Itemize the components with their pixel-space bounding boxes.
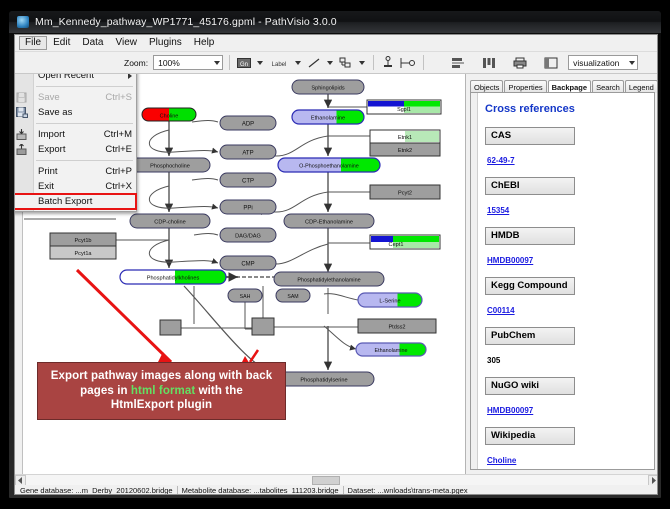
svg-text:ATP: ATP xyxy=(242,151,253,157)
toolbar-separator xyxy=(229,55,230,70)
svg-text:Sphingolipids: Sphingolipids xyxy=(311,86,344,92)
bond-tool-icon[interactable] xyxy=(399,55,417,71)
callout-line2-b: with the xyxy=(195,385,243,397)
svg-text:SAH: SAH xyxy=(240,294,251,300)
gene-node-cept1: Cept1 xyxy=(370,235,440,249)
menu-item-exit-label: Exit xyxy=(38,181,105,192)
save-as-disk-icon xyxy=(16,107,28,118)
menu-item-print-label: Print xyxy=(38,166,105,177)
toolbar-separator-3 xyxy=(423,55,424,70)
app-client-area: File Edit Data View Plugins Help Zoom: 1… xyxy=(14,34,658,495)
screenshot-root: Mm_Kennedy_pathway_WP1771_45176.gpml - P… xyxy=(0,0,670,509)
metabolite-node-ppi: PPi xyxy=(220,200,276,214)
menu-item-import-label: Import xyxy=(38,129,104,140)
gene-node-ptdss2: Ptdss2 xyxy=(358,319,436,333)
menu-item-exit[interactable]: Exit Ctrl+X xyxy=(15,179,136,194)
metabolite-node-phosphocholine: Phosphocholine xyxy=(130,158,210,172)
metabolite-node-phosphatidylethanolamine: Phosphatidylethanolamine xyxy=(274,272,384,286)
metabolite-node-ctp: CTP xyxy=(220,173,276,187)
menu-item-import-accel: Ctrl+M xyxy=(104,129,132,140)
align-tool-icon[interactable] xyxy=(450,55,466,71)
svg-text:Cept1: Cept1 xyxy=(389,242,404,248)
save-disk-icon xyxy=(16,92,28,103)
menu-item-batch-export[interactable]: Batch Export xyxy=(15,194,136,209)
gene-node-pcyt1a: Pcyt1a xyxy=(50,246,116,259)
xref-value-hmdb[interactable]: HMDB00097 xyxy=(487,256,533,265)
backpage-content: Cross references CAS 62-49-7 ChEBI 15354… xyxy=(470,92,655,470)
metabolite-node-phosphatidylserine: Phosphatidylserine xyxy=(274,372,374,386)
visualization-value: visualization xyxy=(573,58,619,68)
metabolite-node-sah: SAH xyxy=(228,289,262,302)
callout-line2-highlight: html format xyxy=(131,385,195,397)
menu-item-export[interactable]: Export Ctrl+E xyxy=(15,142,136,157)
chevron-down-icon-2 xyxy=(629,61,635,65)
menu-item-print-accel: Ctrl+P xyxy=(105,166,132,177)
menu-edit[interactable]: Edit xyxy=(47,36,76,50)
status-gene-database: Gene database: ...m_Derby_20120602.bridg… xyxy=(18,486,177,495)
svg-text:Ptdss2: Ptdss2 xyxy=(388,325,405,331)
datanode-dropdown-icon[interactable] xyxy=(257,61,263,65)
menu-help[interactable]: Help xyxy=(188,36,221,50)
svg-text:Phosphocholine: Phosphocholine xyxy=(150,164,190,170)
horizontal-scrollbar[interactable] xyxy=(15,474,658,485)
cross-references-heading: Cross references xyxy=(485,103,646,115)
scrollbar-track[interactable] xyxy=(26,475,648,486)
svg-text:CDP-choline: CDP-choline xyxy=(154,220,185,226)
side-panel-tabs: Objects Properties Backpage Search Legen… xyxy=(470,77,658,93)
interaction-tool-icon[interactable] xyxy=(338,55,354,71)
menu-separator-1 xyxy=(36,86,133,87)
metabolite-node-atp: ATP xyxy=(220,145,276,159)
metabolite-node-sphingolipids: Sphingolipids xyxy=(292,80,364,94)
import-icon xyxy=(16,129,28,140)
svg-text:L-Serine: L-Serine xyxy=(379,299,400,305)
svg-text:Sgpl1: Sgpl1 xyxy=(397,107,411,113)
interaction-dropdown-icon[interactable] xyxy=(359,61,365,65)
menu-item-open-recent-label: Open Recent xyxy=(38,74,128,81)
menu-item-export-label: Export xyxy=(38,144,105,155)
xref-value-kegg[interactable]: C00114 xyxy=(487,306,515,315)
svg-text:Choline: Choline xyxy=(160,114,179,120)
svg-text:Etnk1: Etnk1 xyxy=(398,135,412,141)
metabolite-node-cdp-choline: CDP-choline xyxy=(130,214,210,228)
metabolite-node-cmp: CMP xyxy=(220,256,276,270)
application-window: Mm_Kennedy_pathway_WP1771_45176.gpml - P… xyxy=(8,10,662,499)
metabolite-node-l-serine: L-Serine xyxy=(358,293,422,307)
xref-value-chebi[interactable]: 15354 xyxy=(487,206,509,215)
label-dropdown-icon[interactable] xyxy=(295,61,301,65)
menu-separator-3 xyxy=(36,160,133,161)
menu-item-exit-accel: Ctrl+X xyxy=(105,181,132,192)
menu-item-save: Save Ctrl+S xyxy=(15,90,136,105)
stack-tool-icon[interactable] xyxy=(481,55,497,71)
file-menu-dropdown[interactable]: New Ctrl+N Open Ctrl+O Open Recent xyxy=(15,74,137,212)
svg-text:ADP: ADP xyxy=(242,122,254,128)
xref-label-hmdb: HMDB xyxy=(485,227,575,245)
anchor-tool-icon[interactable] xyxy=(380,55,396,71)
menu-item-save-accel: Ctrl+S xyxy=(105,92,132,103)
scroll-left-icon[interactable] xyxy=(15,475,26,486)
metabolite-node-sam: SAM xyxy=(276,289,310,302)
svg-text:Phosphatidylserine: Phosphatidylserine xyxy=(300,378,347,384)
svg-text:DAG/DAG: DAG/DAG xyxy=(235,234,261,240)
xref-value-wikipedia[interactable]: Choline xyxy=(487,456,516,465)
status-metabolite-database: Metabolite database: ...tabolites_111203… xyxy=(177,486,343,495)
xref-label-kegg: Kegg Compound xyxy=(485,277,575,295)
metabolite-node-phosphatidylcholines: Phosphatidylkholines xyxy=(120,270,226,284)
menu-item-save-as-label: Save as xyxy=(38,107,132,118)
pathvisio-app-icon xyxy=(17,16,29,28)
menu-item-open-recent[interactable]: Open Recent xyxy=(15,74,136,83)
gene-node-pemt xyxy=(252,318,274,335)
pathway-canvas-panel[interactable]: Choline ADP ATP xyxy=(15,74,466,474)
status-bar: Gene database: ...m_Derby_20120602.bridg… xyxy=(15,485,658,495)
zoom-label: Zoom: xyxy=(124,58,148,68)
svg-text:CTP: CTP xyxy=(242,179,254,185)
submenu-arrow-icon xyxy=(128,74,132,79)
svg-text:Ethanolamine: Ethanolamine xyxy=(375,348,408,354)
metabolite-node-ethanolamine-bottom: Ethanolamine xyxy=(356,343,426,356)
svg-text:CMP: CMP xyxy=(241,262,254,268)
svg-text:SAM: SAM xyxy=(287,294,298,300)
menu-separator-2 xyxy=(36,123,133,124)
gene-node-pcyt1b: Pcyt1b xyxy=(50,233,116,246)
menu-view[interactable]: View xyxy=(109,36,143,50)
gene-node-etnk2: Etnk2 xyxy=(370,143,440,156)
scroll-right-icon[interactable] xyxy=(648,475,658,486)
menu-item-save-as[interactable]: Save as xyxy=(15,105,136,120)
window-title: Mm_Kennedy_pathway_WP1771_45176.gpml - P… xyxy=(35,16,337,28)
svg-text:PPi: PPi xyxy=(243,206,252,212)
menu-plugins[interactable]: Plugins xyxy=(143,36,188,50)
svg-text:Label: Label xyxy=(272,62,287,68)
gene-node-sgpl1: Sgpl1 xyxy=(367,100,441,114)
svg-text:Pcyt1a: Pcyt1a xyxy=(74,251,92,257)
metabolite-node-choline-top: Choline xyxy=(142,108,196,121)
callout-line1: Export pathway images along with back xyxy=(51,370,273,382)
backpage-inner: Cross references CAS 62-49-7 ChEBI 15354… xyxy=(479,93,654,469)
callout-line3: HtmlExport plugin xyxy=(111,399,212,411)
menu-data[interactable]: Data xyxy=(76,36,109,50)
svg-text:Phosphatidylkholines: Phosphatidylkholines xyxy=(147,276,200,282)
zoom-value: 100% xyxy=(158,58,180,68)
line-dropdown-icon[interactable] xyxy=(327,61,333,65)
main-split: Choline ADP ATP xyxy=(15,74,658,474)
title-bar: Mm_Kennedy_pathway_WP1771_45176.gpml - P… xyxy=(9,11,662,33)
metabolite-node-adp: ADP xyxy=(220,116,276,130)
menu-bar: File Edit Data View Plugins Help xyxy=(15,35,658,52)
backpage-scrollbar[interactable] xyxy=(471,93,478,469)
label-tool-icon[interactable]: Label xyxy=(268,55,290,71)
svg-text:Pcyt1b: Pcyt1b xyxy=(74,238,91,244)
svg-text:Ethanolamine: Ethanolamine xyxy=(311,116,345,122)
gene-node-pcyt2: Pcyt2 xyxy=(370,185,440,199)
line-tool-icon[interactable] xyxy=(306,55,322,71)
callout-line2-a: pages in xyxy=(80,385,131,397)
metabolite-node-o-phosphoethanolamine: O-Phosphoethanolamine xyxy=(278,158,380,172)
menu-item-import[interactable]: Import Ctrl+M xyxy=(15,127,136,142)
xref-value-nugo[interactable]: HMDB00097 xyxy=(487,406,533,415)
visualization-combo[interactable]: visualization xyxy=(568,55,638,70)
scrollbar-thumb[interactable] xyxy=(312,476,340,485)
metabolite-node-dag: DAG/DAG xyxy=(220,228,276,242)
xref-value-pubchem: 305 xyxy=(487,356,500,365)
metabolite-node-ethanolamine-top: Ethanolamine xyxy=(292,110,364,124)
xref-label-chebi: ChEBI xyxy=(485,177,575,195)
metabolite-node-cdp-ethanolamine: CDP-Ethanolamine xyxy=(284,214,374,228)
annotation-callout: Export pathway images along with back pa… xyxy=(37,362,286,420)
menu-item-save-label: Save xyxy=(38,92,105,103)
svg-text:Pcyt2: Pcyt2 xyxy=(398,191,412,197)
svg-text:Phosphatidylethanolamine: Phosphatidylethanolamine xyxy=(297,278,360,284)
menu-item-batch-export-label: Batch Export xyxy=(38,196,132,207)
datanode-tool-icon[interactable]: Gn xyxy=(236,55,252,71)
svg-text:O-Phosphoethanolamine: O-Phosphoethanolamine xyxy=(299,164,359,170)
gene-node-etnk1: Etnk1 xyxy=(370,130,440,143)
xref-label-nugo: NuGO wiki xyxy=(485,377,575,395)
menu-item-export-accel: Ctrl+E xyxy=(105,144,132,155)
xref-label-pubchem: PubChem xyxy=(485,327,575,345)
menu-item-print[interactable]: Print Ctrl+P xyxy=(15,164,136,179)
toolbar-separator-2 xyxy=(373,55,374,70)
svg-text:CDP-Ethanolamine: CDP-Ethanolamine xyxy=(305,220,353,226)
side-panel-icon[interactable] xyxy=(543,55,559,71)
side-panel: Objects Properties Backpage Search Legen… xyxy=(466,74,658,474)
tool-bar: Zoom: 100% Gn Label xyxy=(15,52,658,74)
xref-label-cas: CAS xyxy=(485,127,575,145)
xref-value-cas[interactable]: 62-49-7 xyxy=(487,156,515,165)
xref-label-wikipedia: Wikipedia xyxy=(485,427,575,445)
status-dataset: Dataset: ...wnloads\trans-meta.pgex xyxy=(343,486,472,495)
export-icon xyxy=(16,144,28,155)
svg-text:Gn: Gn xyxy=(240,62,248,68)
zoom-combo[interactable]: 100% xyxy=(153,55,223,70)
chevron-down-icon xyxy=(214,61,220,65)
print-icon[interactable] xyxy=(512,55,528,71)
menu-file[interactable]: File xyxy=(19,36,47,50)
gene-node-ptdss1 xyxy=(160,320,181,335)
svg-text:Etnk2: Etnk2 xyxy=(398,148,412,154)
